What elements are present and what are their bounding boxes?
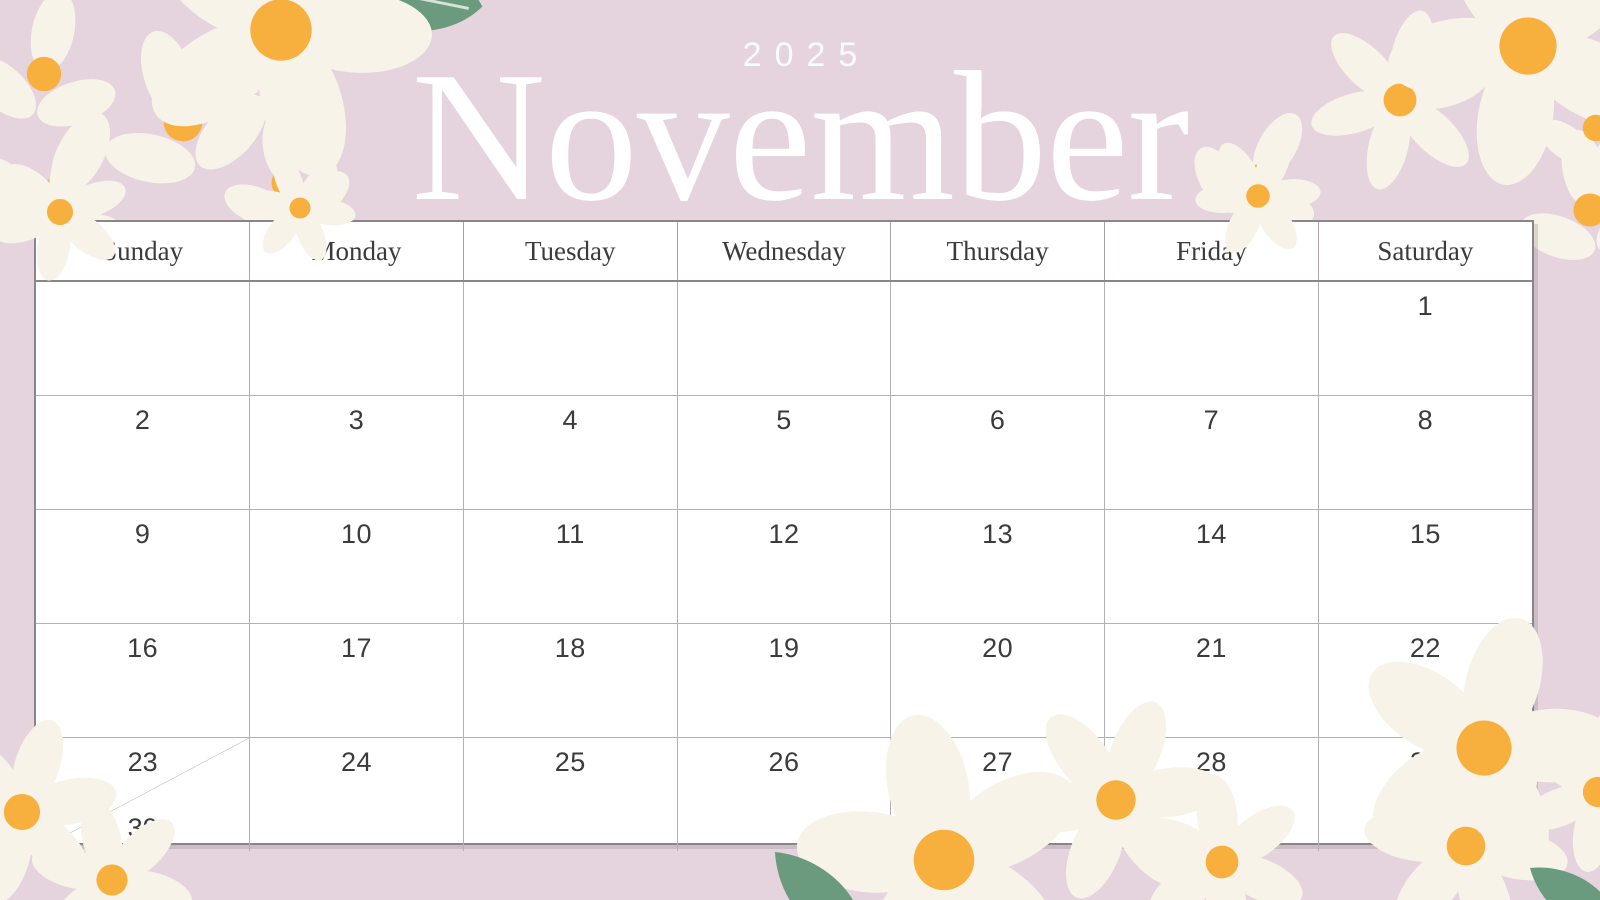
calendar-header: 2025 November <box>0 0 1600 220</box>
calendar-week-row: 9 10 11 12 13 14 15 <box>36 510 1532 624</box>
day-cell[interactable]: 4 <box>463 396 677 510</box>
day-number: 12 <box>678 510 891 548</box>
leaf-bottom-right <box>1518 853 1600 900</box>
day-number: 25 <box>464 738 677 776</box>
weekday-header-tuesday: Tuesday <box>463 222 677 281</box>
day-cell[interactable]: 10 <box>250 510 464 624</box>
calendar-page: 2025 November Sunday Monday Tuesday Wedn… <box>0 0 1600 900</box>
day-cell[interactable]: 12 <box>677 510 891 624</box>
day-cell[interactable]: 9 <box>36 510 250 624</box>
day-number: 22 <box>1319 624 1532 662</box>
day-number: 1 <box>1319 282 1532 320</box>
day-cell[interactable]: 14 <box>1105 510 1319 624</box>
month-title: November <box>0 44 1600 230</box>
day-number: 13 <box>891 510 1104 548</box>
day-number: 2 <box>36 396 249 434</box>
weekday-header-monday: Monday <box>250 222 464 281</box>
day-number: 24 <box>250 738 463 776</box>
day-cell[interactable]: 13 <box>891 510 1105 624</box>
day-number: 16 <box>36 624 249 662</box>
day-cell[interactable]: 20 <box>891 624 1105 738</box>
day-cell[interactable]: 15 <box>1318 510 1532 624</box>
day-cell[interactable]: 18 <box>463 624 677 738</box>
day-cell[interactable] <box>250 281 464 396</box>
day-number: 11 <box>464 510 677 548</box>
calendar-week-row: 16 17 18 19 20 21 22 <box>36 624 1532 738</box>
day-cell[interactable]: 11 <box>463 510 677 624</box>
calendar-week-row: 23 30 24 25 26 27 28 29 <box>36 738 1532 852</box>
day-cell[interactable] <box>36 281 250 396</box>
day-number: 4 <box>464 396 677 434</box>
day-number: 7 <box>1105 396 1318 434</box>
calendar-week-row: 2 3 4 5 6 7 8 <box>36 396 1532 510</box>
day-number: 3 <box>250 396 463 434</box>
day-number: 23 <box>36 749 249 776</box>
weekday-header-sunday: Sunday <box>36 222 250 281</box>
day-cell[interactable]: 29 <box>1318 738 1532 852</box>
day-number: 17 <box>250 624 463 662</box>
day-cell[interactable] <box>677 281 891 396</box>
day-cell[interactable]: 2 <box>36 396 250 510</box>
day-cell[interactable] <box>463 281 677 396</box>
day-cell[interactable]: 22 <box>1318 624 1532 738</box>
day-number: 5 <box>678 396 891 434</box>
day-number: 15 <box>1319 510 1532 548</box>
day-cell[interactable]: 6 <box>891 396 1105 510</box>
day-cell[interactable]: 5 <box>677 396 891 510</box>
day-cell[interactable]: 16 <box>36 624 250 738</box>
weekday-header-saturday: Saturday <box>1318 222 1532 281</box>
day-number: 9 <box>36 510 249 548</box>
day-cell-split-23-30[interactable]: 23 30 <box>36 738 250 852</box>
day-cell[interactable]: 25 <box>463 738 677 852</box>
weekday-header-friday: Friday <box>1105 222 1319 281</box>
day-number: 28 <box>1105 738 1318 776</box>
day-cell[interactable] <box>1105 281 1319 396</box>
day-number: 10 <box>250 510 463 548</box>
day-number: 30 <box>36 815 249 842</box>
day-number: 14 <box>1105 510 1318 548</box>
day-cell[interactable]: 8 <box>1318 396 1532 510</box>
day-cell[interactable]: 1 <box>1318 281 1532 396</box>
day-number: 27 <box>891 738 1104 776</box>
day-number: 21 <box>1105 624 1318 662</box>
weekday-header-row: Sunday Monday Tuesday Wednesday Thursday… <box>36 222 1532 281</box>
day-cell[interactable]: 19 <box>677 624 891 738</box>
day-cell[interactable]: 28 <box>1105 738 1319 852</box>
day-cell[interactable]: 27 <box>891 738 1105 852</box>
day-number: 19 <box>678 624 891 662</box>
day-cell[interactable] <box>891 281 1105 396</box>
weekday-header-thursday: Thursday <box>891 222 1105 281</box>
day-number: 20 <box>891 624 1104 662</box>
calendar-week-row: 1 <box>36 281 1532 396</box>
calendar-grid: Sunday Monday Tuesday Wednesday Thursday… <box>34 220 1534 845</box>
calendar-head: Sunday Monday Tuesday Wednesday Thursday… <box>36 222 1532 281</box>
day-number: 8 <box>1319 396 1532 434</box>
calendar-table: Sunday Monday Tuesday Wednesday Thursday… <box>36 222 1532 851</box>
weekday-header-wednesday: Wednesday <box>677 222 891 281</box>
day-number: 26 <box>678 738 891 776</box>
day-cell[interactable]: 21 <box>1105 624 1319 738</box>
day-cell[interactable]: 26 <box>677 738 891 852</box>
day-cell[interactable]: 17 <box>250 624 464 738</box>
day-cell[interactable]: 24 <box>250 738 464 852</box>
day-number: 6 <box>891 396 1104 434</box>
calendar-body: 1 2 3 4 5 6 7 8 9 10 11 12 <box>36 281 1532 851</box>
day-cell[interactable]: 3 <box>250 396 464 510</box>
day-number: 29 <box>1319 738 1532 776</box>
day-cell[interactable]: 7 <box>1105 396 1319 510</box>
day-number: 18 <box>464 624 677 662</box>
